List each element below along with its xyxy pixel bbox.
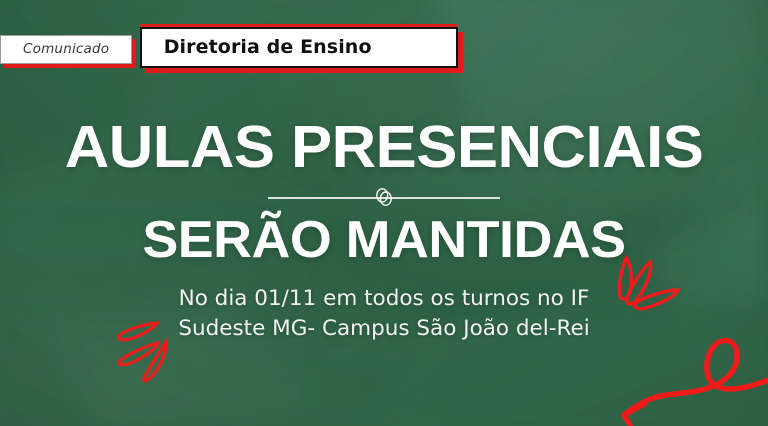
headline-line-2: SERÃO MANTIDAS bbox=[0, 214, 768, 266]
headline-line-1: AULAS PRESENCIAIS bbox=[0, 118, 768, 177]
poster-content: AULAS PRESENCIAIS SERÃO MANTIDAS No dia … bbox=[0, 118, 768, 343]
announcement-poster: Comunicado Diretoria de Ensino AULAS PRE… bbox=[0, 0, 768, 426]
category-tag-label: Comunicado bbox=[23, 41, 109, 57]
double-ring-ornament-icon bbox=[369, 186, 399, 208]
header-labels: Comunicado Diretoria de Ensino bbox=[0, 20, 458, 68]
body-text-line-1: No dia 01/11 em todos os turnos no IF bbox=[0, 284, 768, 314]
department-tag-label: Diretoria de Ensino bbox=[164, 36, 372, 58]
body-text: No dia 01/11 em todos os turnos no IF Su… bbox=[0, 284, 768, 343]
department-tag: Diretoria de Ensino bbox=[140, 27, 458, 68]
body-text-line-2: Sudeste MG- Campus São João del-Rei bbox=[0, 314, 768, 344]
decorative-divider bbox=[268, 186, 500, 208]
category-tag: Comunicado bbox=[0, 35, 132, 64]
